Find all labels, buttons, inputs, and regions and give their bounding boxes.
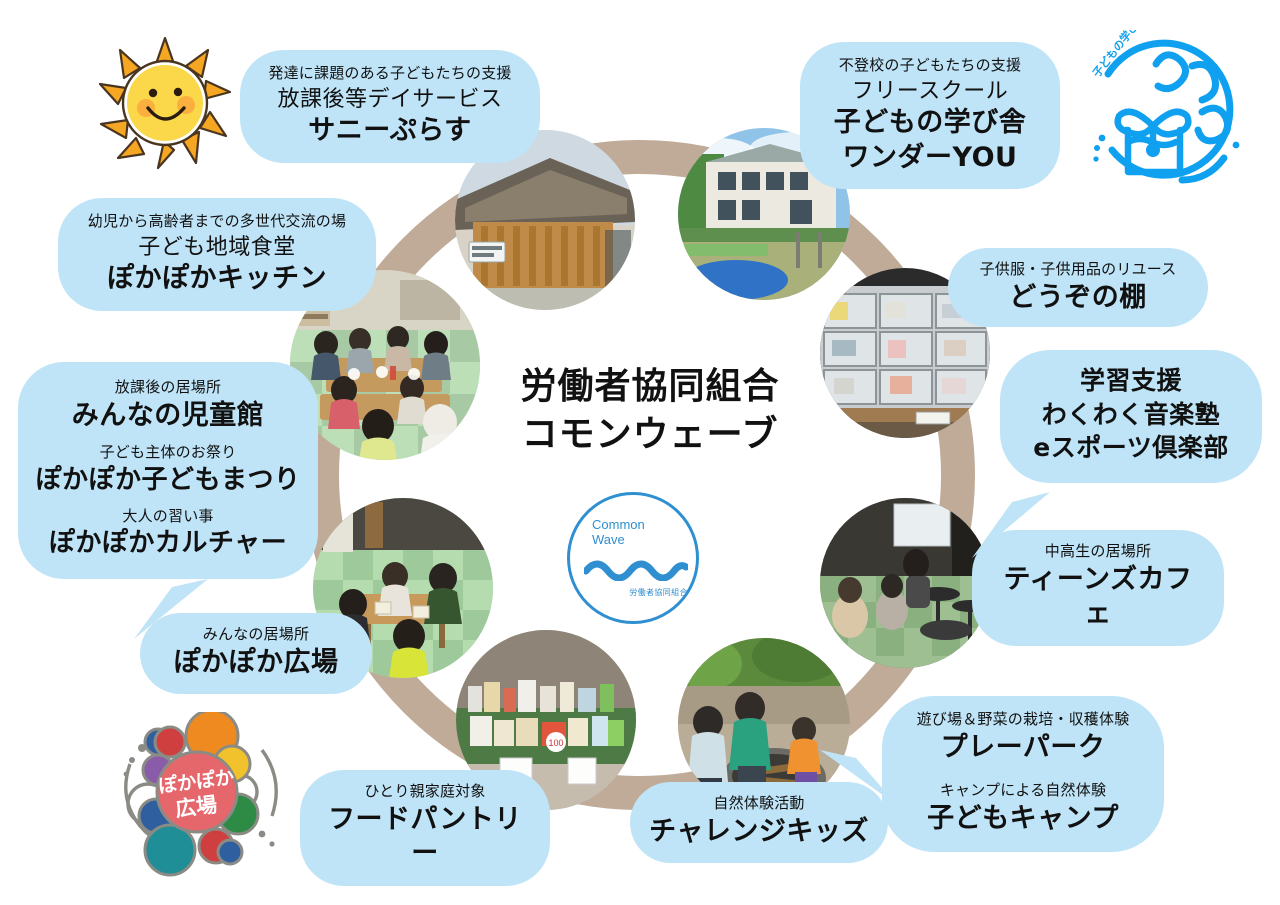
bubble-main-label: ぽかぽか広場 — [158, 646, 354, 681]
bubble-group: 子供服・子供用品のリユース どうぞの棚 — [968, 258, 1188, 315]
bubble-sub-label: 不登校の子どもたちの支援 — [826, 54, 1034, 77]
bubble-group: 学習支援 わくわく音楽塾 eスポーツ倶楽部 — [1016, 364, 1246, 465]
bubble-food-pantry[interactable]: ひとり親家庭対象 フードパントリー — [300, 770, 550, 886]
common-wave-logo: Common Wave 労働者協同組合 — [567, 492, 699, 624]
bubble-tail-icon — [118, 577, 218, 639]
center-title-line1: 労働者協同組合 — [460, 363, 840, 411]
bubble-sub-label: 幼児から高齢者までの多世代交流の場 — [84, 210, 350, 233]
bubble-main-label-1: プレーパーク — [896, 731, 1150, 766]
center-title-line2: コモンウェーブ — [460, 411, 840, 459]
bubble-douzo-tana[interactable]: 子供服・子供用品のリユース どうぞの棚 — [948, 248, 1208, 327]
pokapoka-hiroba-logo: ぽかぽか 広場 — [112, 712, 292, 878]
bubble-sub-label: ひとり親家庭対象 — [318, 780, 532, 803]
bubble-tail-icon — [954, 488, 1064, 558]
common-wave-logo-subtitle: 労働者協同組合 — [570, 587, 688, 598]
bubble-item-label-2: eスポーツ倶楽部 — [1016, 431, 1246, 465]
svg-text:100: 100 — [548, 738, 563, 748]
bubble-mid-label: 放課後等デイサービス — [266, 85, 514, 114]
bubble-sub-label-1: 遊び場＆野菜の栽培・収穫体験 — [896, 708, 1150, 731]
bubble-group: 不登校の子どもたちの支援 フリースクール 子どもの学び舎 ワンダーYOU — [826, 54, 1034, 175]
wonder-logo-text: 子どもの学び舎 — [1089, 30, 1148, 80]
bubble-main-label: 子どもの学び舎 — [826, 106, 1034, 141]
bubble-gakushu-shien[interactable]: 学習支援 わくわく音楽塾 eスポーツ倶楽部 — [1000, 350, 1262, 483]
bubble-pokapoka-hiroba[interactable]: みんなの居場所 ぽかぽか広場 — [140, 613, 372, 694]
connecting-ring-band — [305, 140, 975, 810]
bubble-group-2: キャンプによる自然体験 子どもキャンプ — [896, 779, 1150, 836]
infographic-canvas: 100 — [0, 0, 1280, 905]
bubble-sub-label-3: 大人の習い事 — [28, 505, 308, 528]
common-wave-logo-line1: Common — [592, 517, 645, 532]
bubble-sub-label-1: 放課後の居場所 — [28, 376, 308, 399]
bubble-mid-label: 子ども地域食堂 — [84, 233, 350, 262]
bubble-sub-label: 子供服・子供用品のリユース — [968, 258, 1188, 281]
common-wave-logo-text: Common Wave — [592, 517, 645, 548]
bubble-sunny-plus[interactable]: 発達に課題のある子どもたちの支援 放課後等デイサービス サニーぷらす — [240, 50, 540, 163]
bubble-main-label: チャレンジキッズ — [648, 815, 870, 850]
bubble-main-label: ぽかぽかキッチン — [84, 262, 350, 297]
bubble-group-3: 大人の習い事 ぽかぽかカルチャー — [28, 505, 308, 561]
bubble-teens-cafe[interactable]: 中高生の居場所 ティーンズカフェ — [972, 530, 1224, 646]
bubble-pokapoka-kitchen[interactable]: 幼児から高齢者までの多世代交流の場 子ども地域食堂 ぽかぽかキッチン — [58, 198, 376, 311]
bubble-main-label: フードパントリー — [318, 803, 532, 872]
bubble-main-label: どうぞの棚 — [968, 281, 1188, 316]
common-wave-logo-line2: Wave — [592, 532, 645, 547]
pokapoka-logo-line2: 広場 — [174, 793, 219, 822]
bubble-sub-label: 発達に課題のある子どもたちの支援 — [266, 62, 514, 85]
bubble-group-1: 遊び場＆野菜の栽培・収穫体験 プレーパーク — [896, 708, 1150, 765]
bubble-main-label-3: ぽかぽかカルチャー — [28, 527, 308, 560]
wave-icon — [584, 555, 688, 581]
bubble-main-label-2: ぽかぽか子どもまつり — [28, 464, 308, 497]
sun-icon — [98, 36, 232, 170]
bubble-main-label-2: 子どもキャンプ — [896, 802, 1150, 837]
bubble-left-triple[interactable]: 放課後の居場所 みんなの児童館 子ども主体のお祭り ぽかぽか子どもまつり 大人の… — [18, 362, 318, 579]
bubble-challenge-kids[interactable]: 自然体験活動 チャレンジキッズ — [630, 782, 888, 863]
bubble-wonder-you[interactable]: 不登校の子どもたちの支援 フリースクール 子どもの学び舎 ワンダーYOU — [800, 42, 1060, 189]
bubble-group: 幼児から高齢者までの多世代交流の場 子ども地域食堂 ぽかぽかキッチン — [84, 210, 350, 297]
bubble-sub-label-2: キャンプによる自然体験 — [896, 779, 1150, 802]
bubble-sub-label-2: 子ども主体のお祭り — [28, 441, 308, 464]
page-title: 労働者協同組合 コモンウェーブ — [460, 363, 840, 458]
bubble-main-label-2: ワンダーYOU — [826, 141, 1034, 176]
bubble-group-1: 放課後の居場所 みんなの児童館 — [28, 376, 308, 433]
bubble-main-label: サニーぷらす — [266, 114, 514, 149]
bubble-group: 発達に課題のある子どもたちの支援 放課後等デイサービス サニーぷらす — [266, 62, 514, 149]
bubble-main-label-1: みんなの児童館 — [28, 399, 308, 434]
bubble-mid-label: フリースクール — [826, 77, 1034, 106]
bubble-group-2: 子ども主体のお祭り ぽかぽか子どもまつり — [28, 441, 308, 497]
wonder-you-logo: 子どもの学び舎 — [1084, 30, 1256, 188]
bubble-main-label: ティーンズカフェ — [990, 563, 1206, 632]
bubble-item-label-1: わくわく音楽塾 — [1016, 398, 1246, 432]
bubble-group: ひとり親家庭対象 フードパントリー — [318, 780, 532, 872]
bubble-heading-label: 学習支援 — [1016, 364, 1246, 398]
bubble-play-park-camp[interactable]: 遊び場＆野菜の栽培・収穫体験 プレーパーク キャンプによる自然体験 子どもキャン… — [882, 696, 1164, 852]
